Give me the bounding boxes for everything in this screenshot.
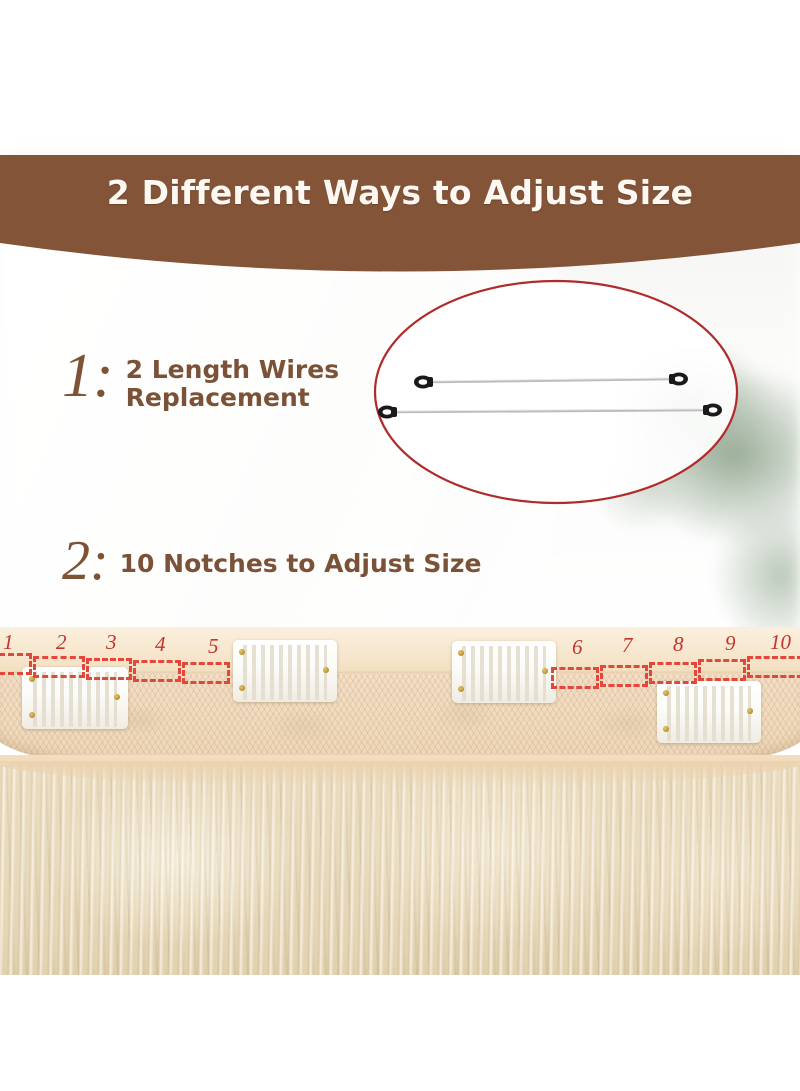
- notch-marker-7: [600, 665, 648, 687]
- product-infographic-page: 2 Different Ways to Adjust Size 1: 2 Len…: [0, 0, 800, 1091]
- wires-callout: [373, 279, 739, 505]
- product-photo: 1 2 3 4 5 6 7 8 9 10: [0, 615, 800, 995]
- notch-marker-9: [698, 659, 746, 681]
- notch-number-1: 1: [3, 632, 14, 653]
- step-1-label: 2 Length Wires Replacement: [126, 348, 339, 412]
- notch-marker-4: [133, 660, 181, 682]
- notch-marker-2: [33, 656, 85, 678]
- notch-number-8: 8: [673, 634, 684, 655]
- notch-number-5: 5: [208, 636, 219, 657]
- notch-marker-1: [0, 653, 32, 675]
- notch-number-2: 2: [56, 632, 67, 653]
- step-1-label-line-2: Replacement: [126, 384, 339, 412]
- snap-clip-rivet: [747, 708, 753, 714]
- notch-number-7: 7: [622, 635, 633, 656]
- notch-marker-3: [86, 658, 132, 680]
- step-1: 1: 2 Length Wires Replacement: [62, 348, 339, 412]
- notch-number-4: 4: [155, 634, 166, 655]
- notch-number-3: 3: [106, 632, 117, 653]
- step-1-number: 1:: [62, 348, 114, 405]
- notch-number-9: 9: [725, 633, 736, 654]
- notch-marker-5: [182, 662, 230, 684]
- notch-number-6: 6: [572, 637, 583, 658]
- snap-clip-rivet: [663, 726, 669, 732]
- bottom-whitespace: [0, 975, 800, 1091]
- notch-ruler: 1 2 3 4 5 6 7 8 9 10: [0, 615, 800, 705]
- blonde-hair: [0, 765, 800, 977]
- notch-marker-10: [747, 656, 800, 678]
- notch-marker-6: [551, 667, 599, 689]
- notch-number-10: 10: [770, 632, 791, 653]
- notch-marker-8: [649, 662, 697, 684]
- step-2-label: 10 Notches to Adjust Size: [120, 536, 482, 578]
- snap-clip-rivet: [29, 712, 35, 718]
- step-2: 2: 10 Notches to Adjust Size: [62, 536, 481, 588]
- step-1-label-line-1: 2 Length Wires: [126, 356, 339, 384]
- step-2-number: 2:: [62, 536, 109, 588]
